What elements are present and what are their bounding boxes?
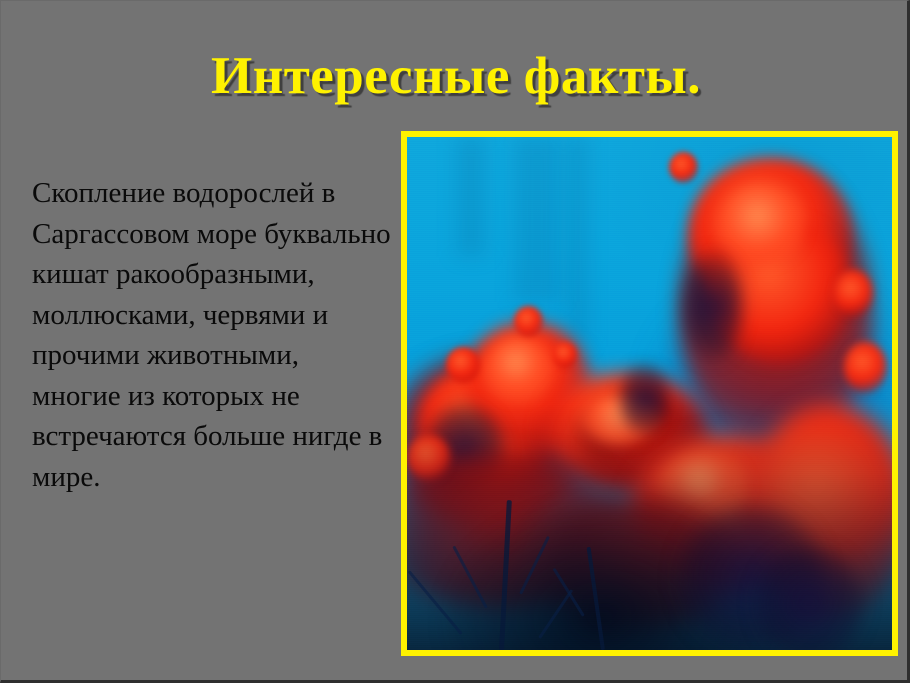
coral-tip xyxy=(669,152,698,183)
coral-highlight xyxy=(717,183,804,265)
coral-shadow xyxy=(756,547,863,650)
body-paragraph: Скопление водорослей в Саргассовом море … xyxy=(32,173,392,497)
presentation-slide: Интересные факты. Скопление водорослей в… xyxy=(0,0,910,683)
coral-shadow xyxy=(683,250,741,363)
coral-tip xyxy=(514,306,543,337)
coral-tip xyxy=(553,342,577,368)
water-streak xyxy=(567,137,589,347)
water-streak xyxy=(456,137,486,257)
page-title: Интересные факты. xyxy=(1,47,910,105)
water-streak xyxy=(514,137,560,302)
coral-tip xyxy=(834,270,873,316)
coral-highlight xyxy=(485,337,553,399)
coral-photo-frame xyxy=(401,131,898,656)
coral-photo xyxy=(407,137,892,650)
coral-tip xyxy=(446,347,480,383)
